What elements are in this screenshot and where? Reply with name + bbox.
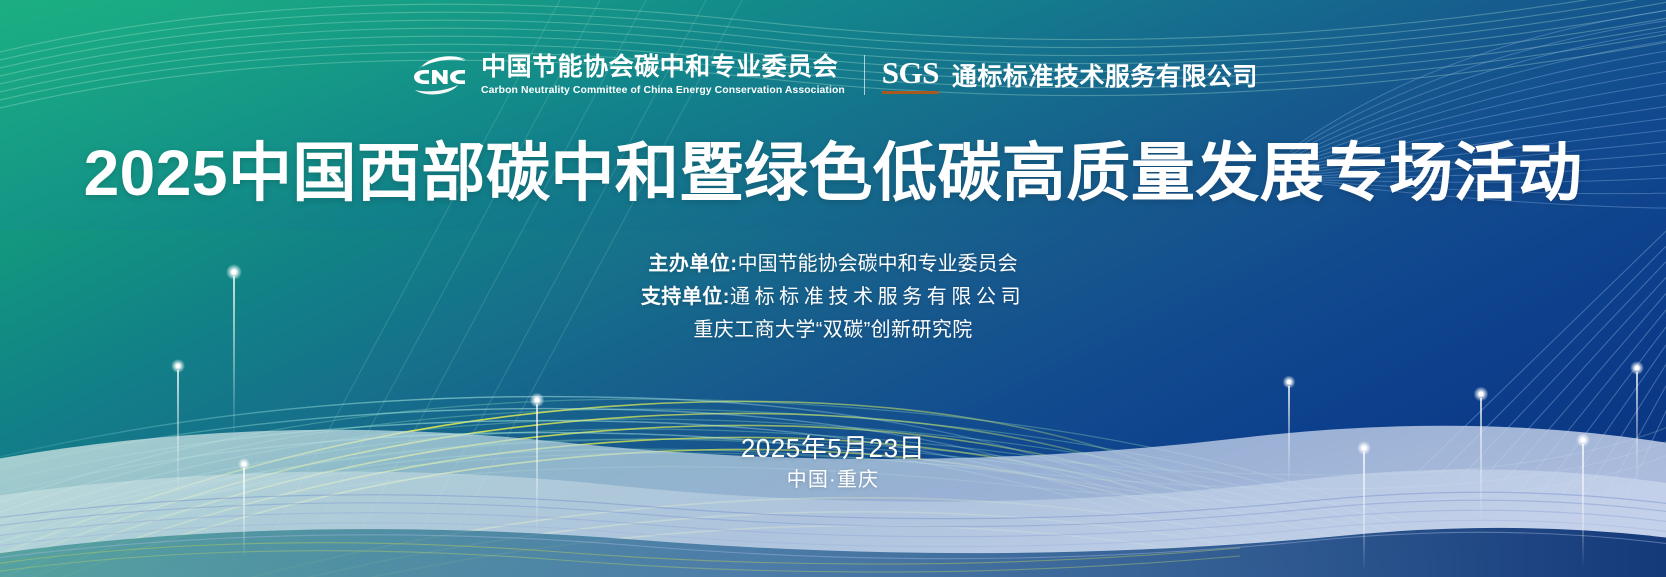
sgs-chinese-name: 通标标准技术服务有限公司 [952,57,1258,93]
event-banner: 中国节能协会碳中和专业委员会 Carbon Neutrality Committ… [0,0,1666,577]
organizer-row-institute: 重庆工商大学“双碳”创新研究院 [0,314,1666,347]
sgs-wordmark-text: SGS [882,57,939,88]
cnc-logo-text: 中国节能协会碳中和专业委员会 Carbon Neutrality Committ… [481,55,849,96]
logo-divider [864,55,865,95]
organizer-value-support: 通标标准技术服务有限公司 [730,286,1025,308]
sgs-wordmark: SGS [882,57,939,94]
organizer-value-institute: 重庆工商大学“双碳”创新研究院 [693,319,972,341]
organizer-row-support: 支持单位:通标标准技术服务有限公司 [0,281,1666,314]
organizer-value-host: 中国节能协会碳中和专业委员会 [738,253,1018,275]
organizer-label-host: 主办单位: [648,253,737,275]
event-date: 2025年5月23日 [0,430,1666,466]
event-location: 中国·重庆 [0,466,1666,494]
sgs-logo-block: SGS 通标标准技术服务有限公司 [882,57,1258,94]
cnc-english-name: Carbon Neutrality Committee of China Ene… [481,85,845,96]
organizer-list: 主办单位:中国节能协会碳中和专业委员会 支持单位:通标标准技术服务有限公司 重庆… [0,248,1666,347]
sponsor-logo-bar: 中国节能协会碳中和专业委员会 Carbon Neutrality Committ… [0,52,1666,98]
event-footer: 2025年5月23日 中国·重庆 [0,430,1666,494]
cnc-chinese-name: 中国节能协会碳中和专业委员会 [481,55,849,80]
cnc-leaf-logo-icon [408,52,472,98]
sgs-underline-rule [882,91,939,94]
organizer-row-host: 主办单位:中国节能协会碳中和专业委员会 [0,248,1666,281]
organizer-label-support: 支持单位: [641,286,730,308]
event-title: 2025中国西部碳中和暨绿色低碳高质量发展专场活动 [0,134,1666,212]
cnc-logo-block: 中国节能协会碳中和专业委员会 Carbon Neutrality Committ… [408,52,849,98]
